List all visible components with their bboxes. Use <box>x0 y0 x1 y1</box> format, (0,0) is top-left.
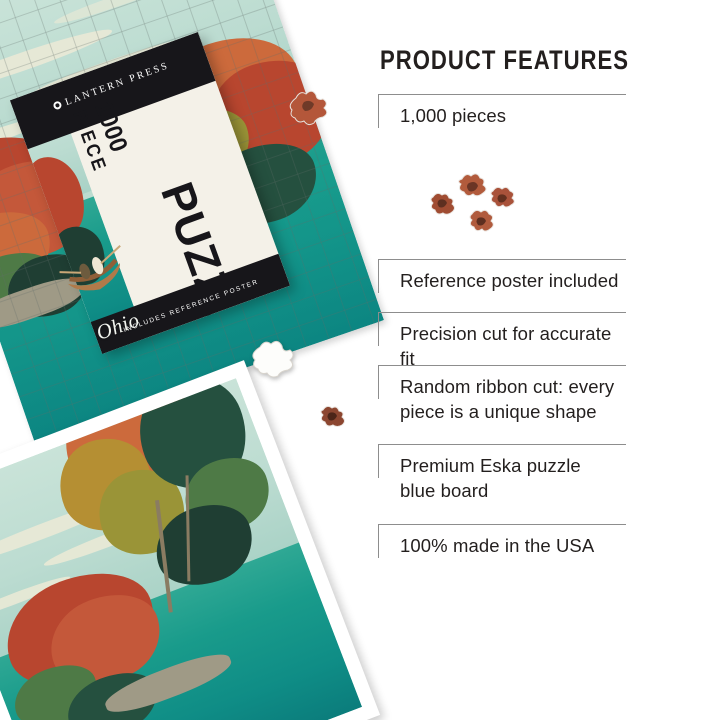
feature-rule-top <box>378 365 626 366</box>
feature-label: 100% made in the USA <box>400 533 594 558</box>
feature-label: Reference poster included <box>400 268 618 293</box>
feature-label: Random ribbon cut: every piece is a uniq… <box>400 374 614 424</box>
feature-rule-top <box>378 259 626 260</box>
loose-puzzle-piece <box>318 402 348 432</box>
loose-puzzle-piece <box>288 88 330 126</box>
page-title: PRODUCT FEATURES <box>380 44 624 76</box>
product-features-panel: PRODUCT FEATURES 1,000 pieces Reference … <box>378 44 678 584</box>
feature-label: Premium Eska puzzle blue board <box>400 453 581 503</box>
feature-rule-top <box>378 524 626 525</box>
lantern-press-logo-icon <box>52 100 62 110</box>
blank-puzzle-piece <box>252 336 294 378</box>
feature-rule-left <box>378 524 379 558</box>
feature-rule-top <box>378 444 626 445</box>
feature-rule-left <box>378 312 379 346</box>
feature-rule-left <box>378 365 379 399</box>
feature-label: Precision cut for accurate fit <box>400 321 628 371</box>
feature-rule-top <box>378 94 626 95</box>
product-photo-composition: LANTERN PRESS 1000 PIECE PUZZLE INCLUDES… <box>0 0 394 720</box>
product-feature-composite: LANTERN PRESS 1000 PIECE PUZZLE INCLUDES… <box>0 0 720 720</box>
feature-label: 1,000 pieces <box>400 103 506 128</box>
feature-rule-left <box>378 444 379 478</box>
feature-rule-top <box>378 312 626 313</box>
feature-rule-left <box>378 259 379 293</box>
feature-rule-left <box>378 94 379 128</box>
